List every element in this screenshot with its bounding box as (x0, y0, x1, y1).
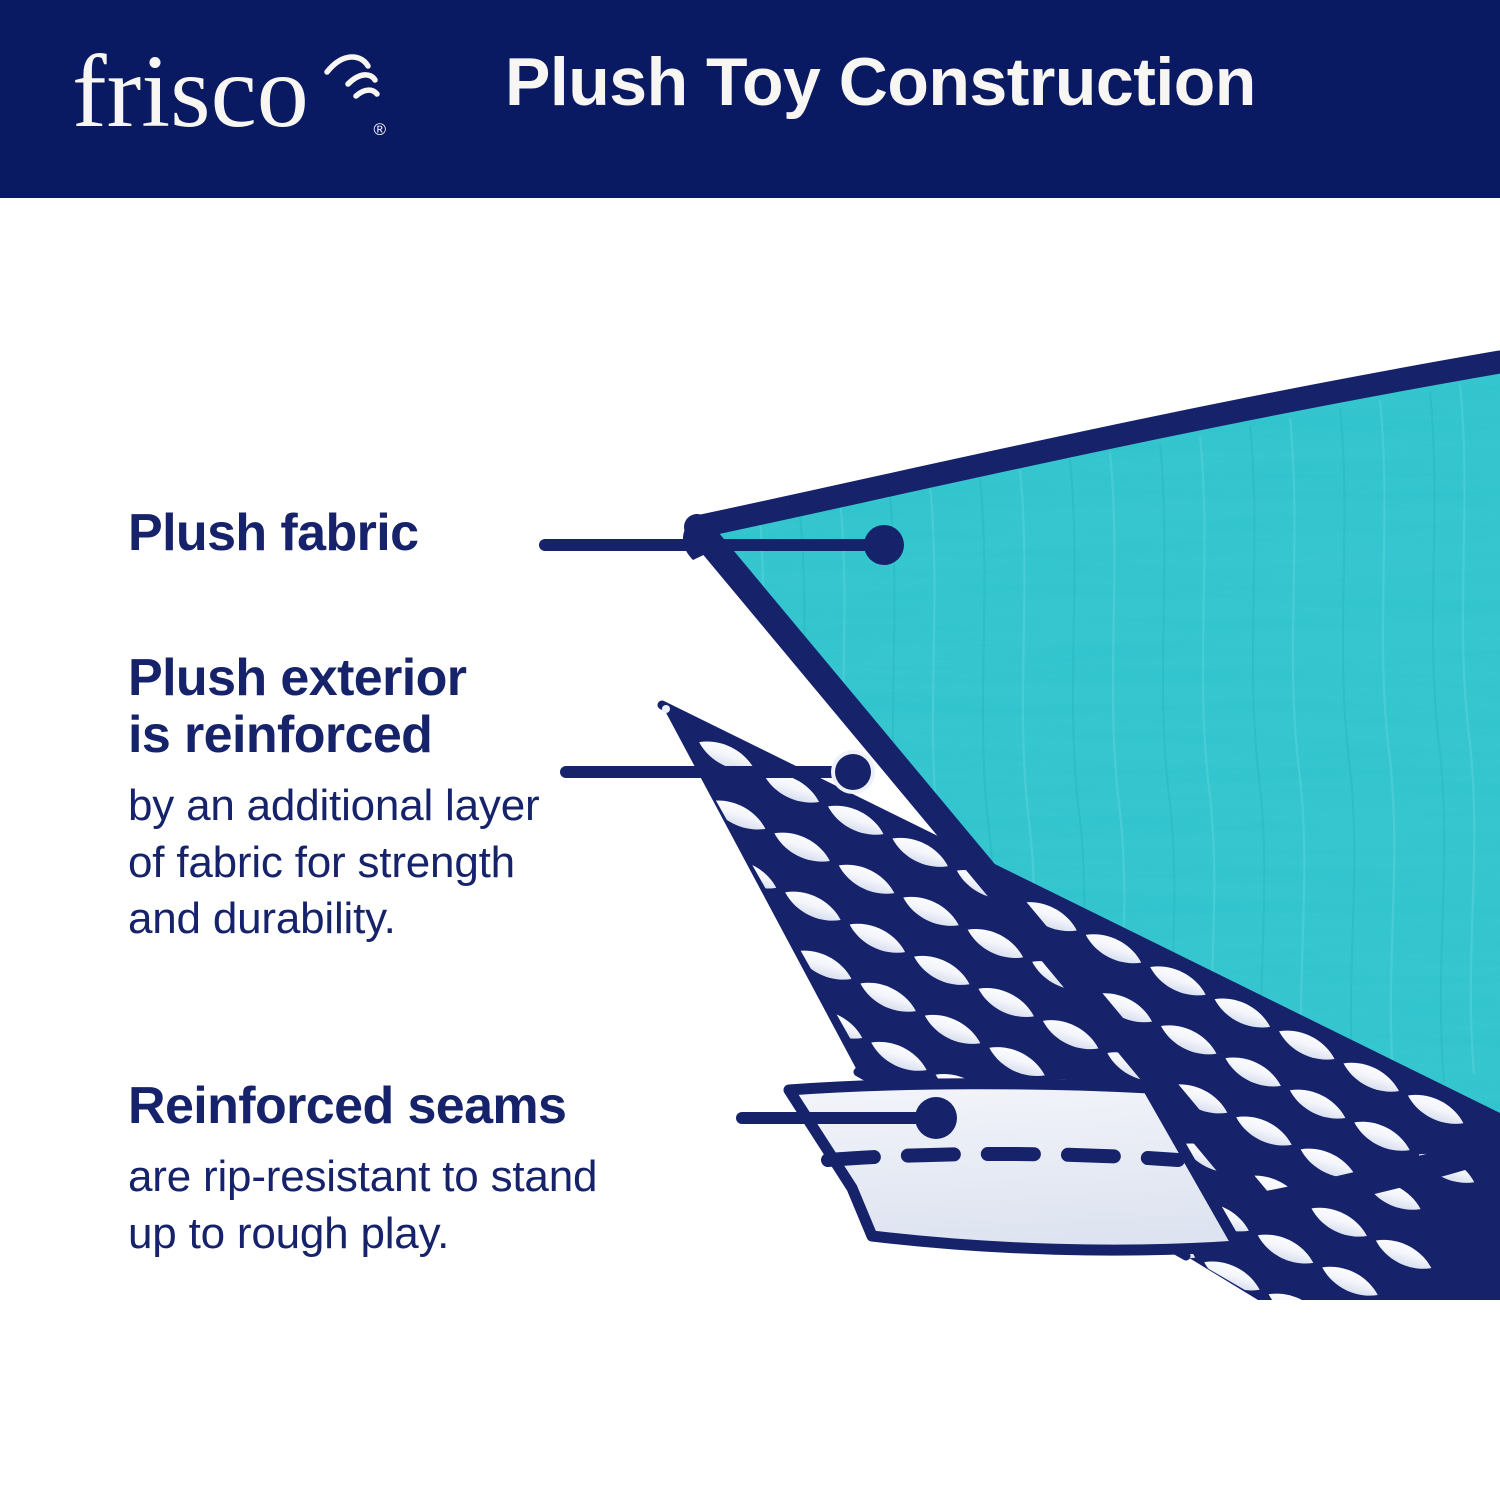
infographic-page: frisco ® Plush Toy Construction (0, 0, 1500, 1500)
callout-body: by an additional layer of fabric for str… (128, 778, 539, 947)
callout-plush-fabric: Plush fabric (128, 505, 418, 562)
callout-heading: Plush fabric (128, 505, 418, 562)
callout-body: are rip-resistant to stand up to rough p… (128, 1149, 597, 1262)
callout-plush-exterior-reinforced: Plush exterior is reinforced by an addit… (128, 650, 539, 947)
callout-heading: Reinforced seams (128, 1078, 597, 1135)
callout-heading: Plush exterior is reinforced (128, 650, 539, 764)
callout-reinforced-seams: Reinforced seams are rip-resistant to st… (128, 1078, 597, 1262)
